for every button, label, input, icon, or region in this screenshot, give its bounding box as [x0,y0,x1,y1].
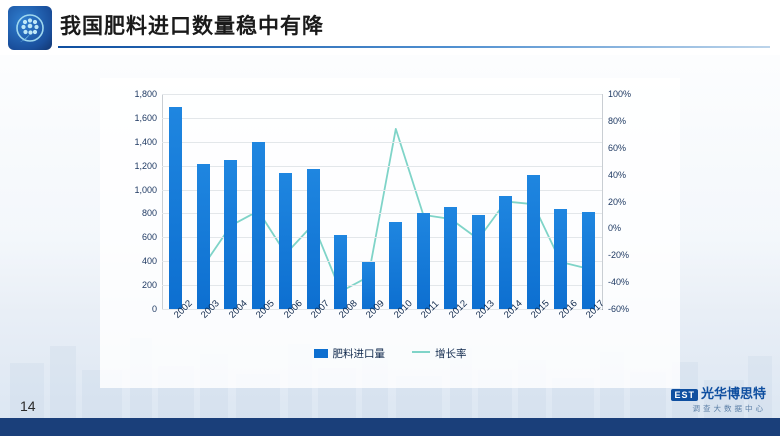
bar [169,107,182,309]
bar [582,212,595,309]
brand-name-text: 光华博思特 [701,386,766,401]
title-underline [58,46,770,48]
bar [444,207,457,309]
y-axis-right-tick: 100% [608,89,631,99]
gridline [162,118,602,119]
bar [499,196,512,309]
brand-mark-icon: EST [671,389,698,401]
bar [362,262,375,309]
y-axis-left-tick: 1,600 [134,113,157,123]
chart-container: 02004006008001,0001,2001,4001,6001,800-6… [100,78,680,388]
bar [279,173,292,309]
y-axis-left-tick: 200 [142,280,157,290]
gridline [162,94,602,95]
y-axis-left-tick: 0 [152,304,157,314]
y-axis-left-tick: 800 [142,208,157,218]
legend-label-line: 增长率 [435,348,467,360]
y-axis-left-tick: 1,200 [134,161,157,171]
slide: 我国肥料进口数量稳中有降 02004006008001,0001,2001,40… [0,0,780,436]
brand-block: EST光华博思特 调查大数据中心 [671,383,766,414]
bar [389,222,402,309]
y-axis-right-tick: 20% [608,197,626,207]
footer-bar [0,418,780,436]
y-axis-left-tick: 1,800 [134,89,157,99]
y-axis-left-tick: 400 [142,256,157,266]
legend-label-bars: 肥料进口量 [333,348,386,360]
y-axis-right-tick: -20% [608,250,629,260]
page-title: 我国肥料进口数量稳中有降 [60,10,324,40]
brand-subtitle: 调查大数据中心 [671,403,766,414]
chart-legend: 肥料进口量 增长率 [100,346,680,361]
bar [554,209,567,309]
bar [334,235,347,309]
bar [417,213,430,309]
legend-item-line: 增长率 [412,346,467,361]
y-axis-right-line [602,94,603,309]
slide-header: 我国肥料进口数量稳中有降 [0,0,780,55]
y-axis-right-tick: 40% [608,170,626,180]
brand-name: EST光华博思特 [671,383,766,402]
y-axis-right-tick: -40% [608,277,629,287]
bar [252,142,265,309]
bar [197,164,210,309]
leaf-circle-logo-icon [8,6,52,50]
bar [224,160,237,309]
chart-plot-area: 02004006008001,0001,2001,4001,6001,800-6… [162,94,602,309]
y-axis-left-tick: 600 [142,232,157,242]
y-axis-right-tick: 80% [608,116,626,126]
page-number: 14 [20,398,36,414]
bar [472,215,485,309]
bar [307,169,320,309]
legend-item-bars: 肥料进口量 [314,346,386,361]
y-axis-left-tick: 1,000 [134,185,157,195]
y-axis-right-tick: 0% [608,223,621,233]
legend-bar-swatch-icon [314,349,328,358]
bar [527,175,540,309]
legend-line-swatch-icon [412,351,430,353]
y-axis-right-tick: -60% [608,304,629,314]
y-axis-left-tick: 1,400 [134,137,157,147]
gridline [162,142,602,143]
y-axis-right-tick: 60% [608,143,626,153]
